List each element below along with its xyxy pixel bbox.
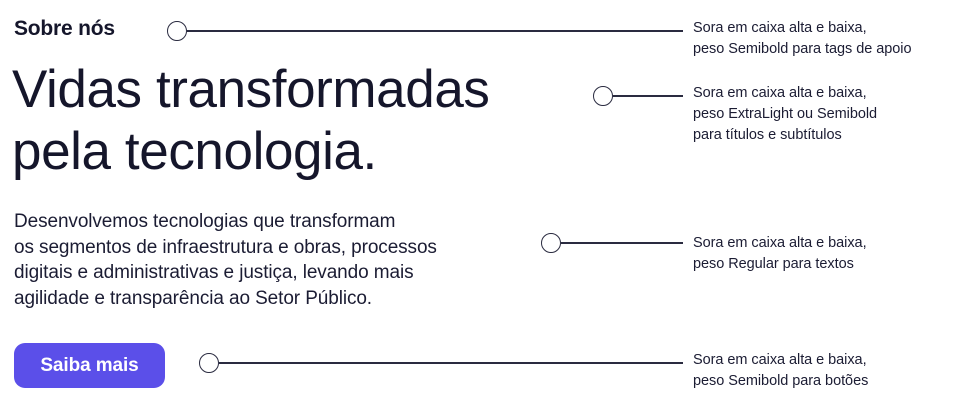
- leader-dot-icon: [199, 353, 219, 373]
- annotation-leader-tag: [167, 20, 683, 42]
- body-paragraph: Desenvolvemos tecnologias que transforma…: [14, 209, 437, 311]
- body-paragraph-line-2: os segmentos de infraestrutura e obras, …: [14, 235, 437, 261]
- annotation-note-button: Sora em caixa alta e baixa, peso Semibol…: [693, 350, 868, 392]
- annotation-note-line: Sora em caixa alta e baixa,: [693, 233, 867, 254]
- leader-line: [561, 242, 683, 243]
- body-paragraph-line-3: digitais e administrativas e justiça, le…: [14, 260, 437, 286]
- leader-dot-icon: [541, 233, 561, 253]
- annotation-note-body: Sora em caixa alta e baixa, peso Regular…: [693, 233, 867, 275]
- leader-line: [613, 95, 683, 96]
- leader-line: [187, 30, 683, 31]
- annotation-leader-button: [199, 352, 683, 374]
- leader-dot-icon: [593, 86, 613, 106]
- eyebrow-tag: Sobre nós: [14, 17, 115, 41]
- annotation-leader-heading: [593, 85, 683, 107]
- annotation-note-heading: Sora em caixa alta e baixa, peso ExtraLi…: [693, 83, 877, 146]
- annotation-note-line: peso Regular para textos: [693, 254, 867, 275]
- annotation-note-line: peso Semibold para tags de apoio: [693, 39, 911, 60]
- saiba-mais-button[interactable]: Saiba mais: [14, 343, 165, 388]
- page-title-line-1: Vidas transformadas: [12, 59, 490, 121]
- annotation-note-line: peso Semibold para botões: [693, 371, 868, 392]
- leader-dot-icon: [167, 21, 187, 41]
- annotation-note-line: para títulos e subtítulos: [693, 125, 877, 146]
- leader-line: [219, 362, 683, 363]
- body-paragraph-line-1: Desenvolvemos tecnologias que transforma…: [14, 209, 437, 235]
- annotation-note-line: Sora em caixa alta e baixa,: [693, 83, 877, 104]
- annotation-leader-body: [541, 232, 683, 254]
- page-title-line-2: pela tecnologia.: [12, 121, 490, 183]
- body-paragraph-line-4: agilidade e transparência ao Setor Públi…: [14, 286, 437, 312]
- typography-spec-canvas: Sobre nós Vidas transformadas pela tecno…: [0, 0, 957, 408]
- annotation-note-line: Sora em caixa alta e baixa,: [693, 18, 911, 39]
- annotation-note-line: Sora em caixa alta e baixa,: [693, 350, 868, 371]
- annotation-note-tag: Sora em caixa alta e baixa, peso Semibol…: [693, 18, 911, 60]
- page-title: Vidas transformadas pela tecnologia.: [12, 59, 490, 183]
- annotation-note-line: peso ExtraLight ou Semibold: [693, 104, 877, 125]
